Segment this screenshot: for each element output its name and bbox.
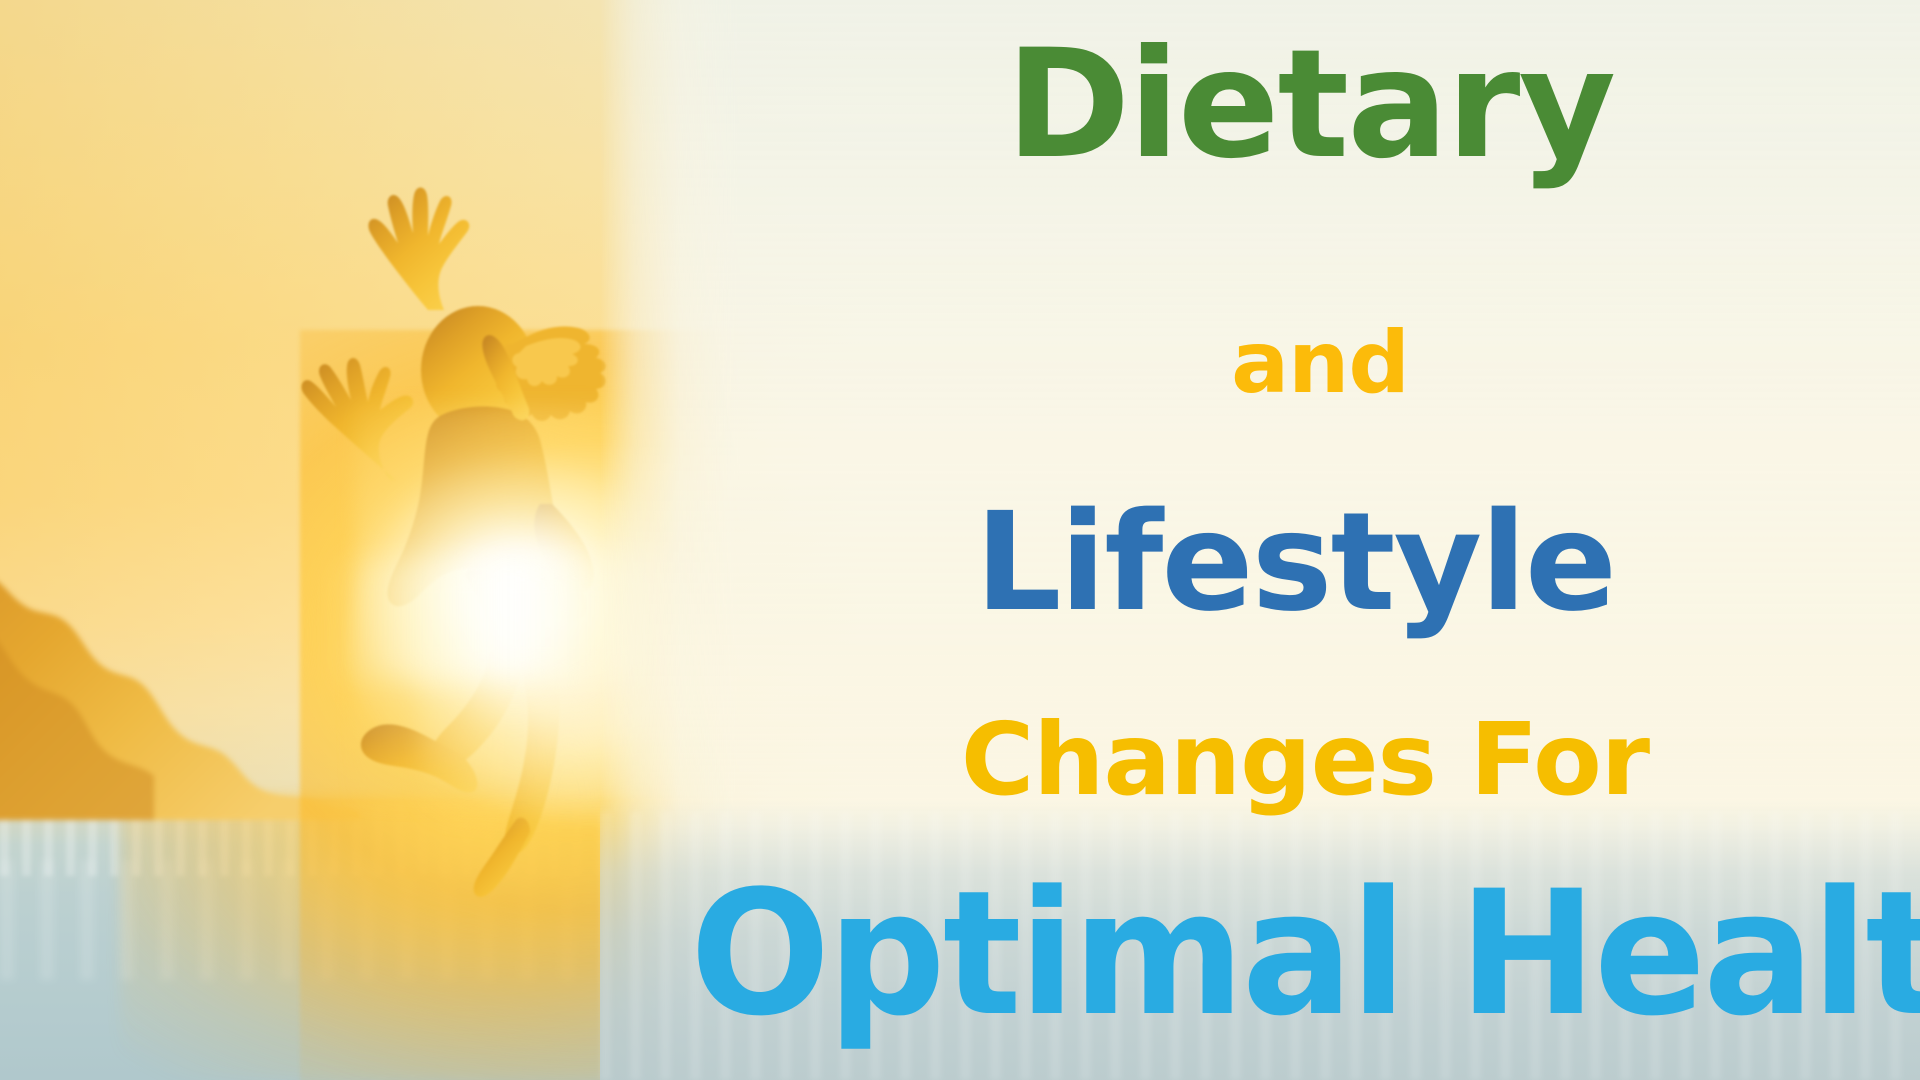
headline-line-dietary: Dietary <box>0 30 1920 180</box>
headline-line-optimal-health: Optimal Health <box>690 868 1920 1040</box>
headline-line-changes-for: Changes For <box>0 710 1920 810</box>
promo-banner: Dietary and Lifestyle Changes For Optima… <box>0 0 1920 1080</box>
headline-block: Dietary and Lifestyle Changes For Optima… <box>0 0 1920 1080</box>
headline-line-lifestyle: Lifestyle <box>0 495 1920 631</box>
headline-line-and: and <box>0 320 1920 406</box>
